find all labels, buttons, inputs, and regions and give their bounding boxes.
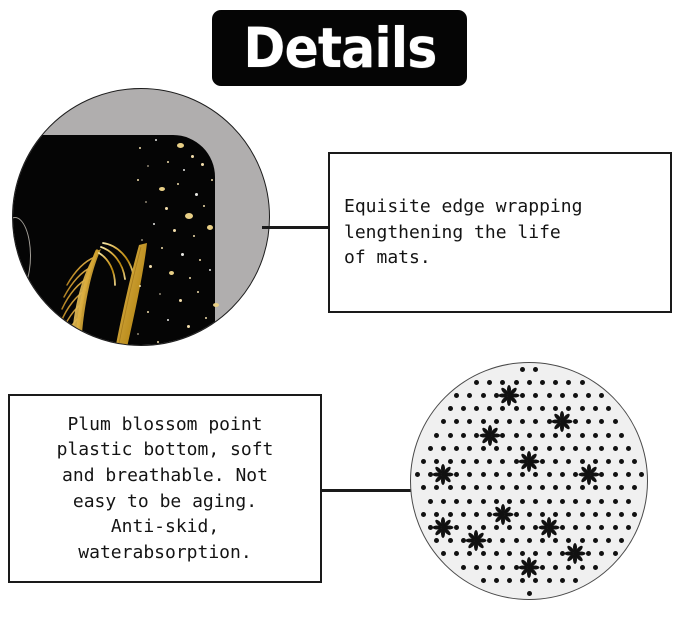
backing-dot [533,551,538,556]
backing-dot [606,485,611,490]
backing-dot [507,472,512,477]
backing-dot [520,472,525,477]
backing-dot [619,512,624,517]
backing-dot [619,433,624,438]
backing-dot [527,433,532,438]
backing-dot [566,565,571,570]
backing-dot [586,446,591,451]
backing-dot [441,499,446,504]
plum-blossom-center [441,525,446,530]
backing-dot [474,512,479,517]
backing-dot [461,485,466,490]
backing-dot [547,499,552,504]
backing-dot [586,551,591,556]
backing-dot [507,446,512,451]
backing-dot [613,551,618,556]
backing-dot [454,472,459,477]
backing-dot [533,446,538,451]
backing-dot [599,393,604,398]
backing-dot [639,472,644,477]
backing-dot [560,578,565,583]
backing-dot [461,512,466,517]
backing-dot [448,512,453,517]
backing-dot [520,367,525,372]
backing-dot [533,393,538,398]
backing-dot [481,525,486,530]
backing-dot [566,485,571,490]
backing-dot [540,565,545,570]
backing-dot [514,380,519,385]
backing-dot [533,419,538,424]
backing-dot [580,459,585,464]
backing-dot [593,459,598,464]
plum-blossom-center [507,393,512,398]
backing-dot [448,459,453,464]
backing-dot [481,446,486,451]
plum-blossom-center [527,565,532,570]
backing-dot [487,406,492,411]
backing-dot [580,485,585,490]
backing-dot [467,472,472,477]
backing-dot [593,565,598,570]
backing-dot [500,380,505,385]
backing-dot [520,525,525,530]
backing-dot [613,499,618,504]
backing-dot [514,433,519,438]
backing-dot [474,406,479,411]
backing-dot [520,551,525,556]
backing-dot [527,538,532,543]
backing-dot [606,512,611,517]
backing-dot [573,472,578,477]
backing-dot [441,551,446,556]
backing-dot [467,499,472,504]
backing-dot [467,551,472,556]
details-banner-title: Details [243,21,436,76]
backing-dot [540,406,545,411]
callout-plastic-bottom-text: Plum blossom point plastic bottom, soft … [20,412,310,565]
backing-dot [494,446,499,451]
backing-dot [573,525,578,530]
backing-dot [461,433,466,438]
backing-dot [560,446,565,451]
backing-dot [461,565,466,570]
backing-dot [580,565,585,570]
backing-dot [580,433,585,438]
plum-blossom-center [487,433,492,438]
backing-dot [606,406,611,411]
backing-dot [613,525,618,530]
backing-dot [613,472,618,477]
backing-dot [507,525,512,530]
mat-front-closeup-image [12,88,270,346]
backing-dot [599,472,604,477]
mat-backing-closeup-image [410,362,648,600]
backing-dot [467,525,472,530]
backing-dot [500,406,505,411]
backing-dot [566,380,571,385]
backing-dot [553,512,558,517]
backing-dot [533,472,538,477]
backing-dot [593,512,598,517]
backing-dot [448,406,453,411]
backing-dot [586,499,591,504]
connector-line-bottom [320,489,416,492]
backing-dot [560,525,565,530]
plum-blossom-center [527,459,532,464]
backing-dot [461,459,466,464]
backing-dot [454,499,459,504]
backing-dot [500,485,505,490]
backing-dot [533,578,538,583]
backing-dot [434,485,439,490]
backing-dot [494,551,499,556]
backing-dot [474,380,479,385]
plum-blossom-center [441,472,446,477]
backing-dot [467,446,472,451]
gold-feather-icon [53,237,173,346]
backing-dot [626,525,631,530]
backing-dot [560,472,565,477]
backing-dot [632,485,637,490]
callout-edge-wrapping: Equisite edge wrapping lengthening the l… [328,152,672,313]
backing-dot [580,380,585,385]
connector-line-top [262,226,330,229]
backing-dot [500,538,505,543]
backing-dot [487,565,492,570]
backing-dot [626,499,631,504]
backing-dot [566,459,571,464]
backing-dot [507,499,512,504]
callout-plastic-bottom: Plum blossom point plastic bottom, soft … [8,394,322,583]
backing-dot [626,472,631,477]
backing-dot [619,459,624,464]
backing-dot [606,538,611,543]
backing-dot [573,393,578,398]
backing-dot [448,538,453,543]
backing-dot [626,446,631,451]
backing-dot [580,406,585,411]
backing-dot [553,565,558,570]
backing-dot [573,446,578,451]
backing-dot [540,459,545,464]
backing-dot [454,446,459,451]
backing-dot [527,380,532,385]
backing-dot [632,459,637,464]
backing-dot [494,472,499,477]
backing-dot [494,525,499,530]
backing-dot [547,551,552,556]
backing-dot [514,538,519,543]
backing-dot [514,485,519,490]
backing-dot [586,393,591,398]
backing-dot [514,512,519,517]
backing-dot [434,459,439,464]
backing-dot [481,472,486,477]
backing-dot [494,499,499,504]
backing-dot [474,433,479,438]
backing-dot [560,393,565,398]
backing-dot [573,499,578,504]
backing-dot [474,459,479,464]
backing-dot [428,499,433,504]
backing-dot [520,446,525,451]
anti-skid-dot-pattern [411,363,647,599]
backing-dot [434,512,439,517]
backing-dot [481,419,486,424]
backing-dot [474,485,479,490]
backing-dot [481,578,486,583]
backing-dot [547,472,552,477]
backing-dot [533,499,538,504]
backing-dot [580,538,585,543]
backing-dot [599,499,604,504]
backing-dot [560,499,565,504]
backing-dot [467,419,472,424]
backing-dot [553,406,558,411]
backing-dot [441,419,446,424]
backing-dot [566,538,571,543]
backing-dot [632,512,637,517]
backing-dot [580,512,585,517]
backing-dot [586,419,591,424]
backing-dot [599,419,604,424]
backing-dot [481,551,486,556]
backing-dot [527,485,532,490]
backing-dot [421,459,426,464]
backing-dot [593,406,598,411]
backing-dot [487,380,492,385]
backing-dot [593,433,598,438]
backing-dot [454,419,459,424]
backing-dot [467,393,472,398]
backing-dot [520,393,525,398]
backing-dot [553,459,558,464]
backing-dot [606,459,611,464]
backing-dot [454,393,459,398]
backing-dot [553,538,558,543]
backing-dot [553,485,558,490]
backing-dot [619,485,624,490]
backing-dot [606,433,611,438]
backing-dot [507,419,512,424]
backing-dot [415,472,420,477]
backing-dot [533,367,538,372]
backing-dot [547,578,552,583]
backing-dot [507,578,512,583]
backing-dot [573,578,578,583]
backing-dot [500,433,505,438]
backing-dot [454,525,459,530]
backing-dot [553,380,558,385]
backing-dot [566,406,571,411]
backing-dot [461,406,466,411]
backing-dot [520,419,525,424]
backing-dot [547,446,552,451]
backing-dot [448,433,453,438]
backing-dot [487,459,492,464]
backing-dot [487,512,492,517]
backing-dot [566,433,571,438]
backing-dot [527,591,532,596]
backing-dot [428,446,433,451]
backing-dot [593,485,598,490]
backing-dot [494,578,499,583]
backing-dot [593,538,598,543]
backing-dot [481,393,486,398]
backing-dot [540,485,545,490]
backing-dot [520,499,525,504]
backing-dot [527,512,532,517]
backing-dot [599,525,604,530]
plum-blossom-center [547,525,552,530]
backing-dot [421,485,426,490]
backing-dot [599,446,604,451]
backing-dot [421,512,426,517]
backing-dot [434,433,439,438]
backing-dot [540,538,545,543]
backing-dot [487,538,492,543]
backing-dot [619,538,624,543]
backing-dot [540,512,545,517]
backing-dot [507,551,512,556]
backing-dot [434,538,439,543]
backing-dot [613,419,618,424]
backing-dot [586,525,591,530]
backing-dot [547,393,552,398]
backing-dot [500,459,505,464]
backing-dot [540,433,545,438]
backing-dot [553,433,558,438]
backing-dot [454,551,459,556]
backing-dot [514,406,519,411]
callout-edge-wrapping-text: Equisite edge wrapping lengthening the l… [344,194,656,271]
backing-dot [494,419,499,424]
backing-dot [448,485,453,490]
backing-dot [527,406,532,411]
backing-dot [487,485,492,490]
backing-dot [474,565,479,570]
backing-dot [540,380,545,385]
backing-dot [599,551,604,556]
backing-dot [500,565,505,570]
backing-dot [613,446,618,451]
plum-blossom-center [474,538,479,543]
backing-dot [520,578,525,583]
backing-dot [481,499,486,504]
backing-dot [566,512,571,517]
backing-dot [573,419,578,424]
backing-dot [441,446,446,451]
details-banner: Details [212,10,467,86]
product-details-infographic: Details [0,0,679,619]
